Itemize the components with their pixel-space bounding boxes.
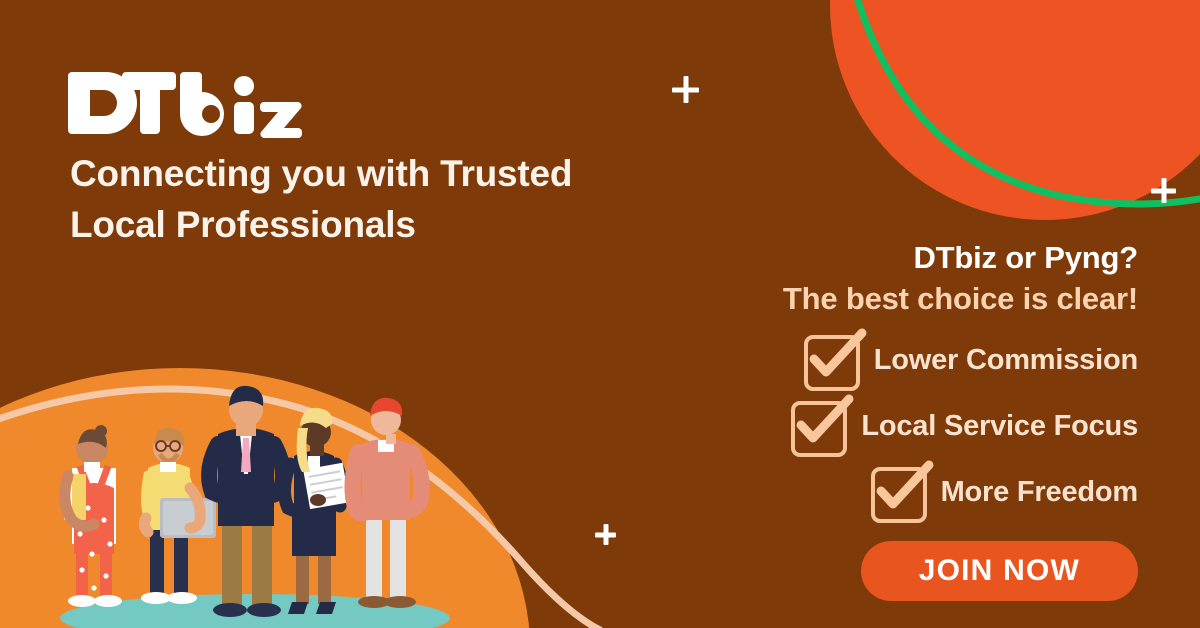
plus-mark-icon	[1151, 178, 1176, 203]
benefit-item: More Freedom	[869, 465, 1138, 521]
figure-woman-with-documents	[284, 408, 349, 614]
benefit-item: Lower Commission	[802, 333, 1138, 389]
plus-mark-icon	[672, 76, 699, 103]
dtbiz-logo[interactable]	[68, 68, 303, 138]
benefit-label: Local Service Focus	[861, 410, 1138, 443]
checkmark-icon	[802, 333, 858, 389]
benefit-label: More Freedom	[941, 476, 1138, 509]
figure-man-with-laptop	[141, 428, 216, 604]
figure-man-in-navy-suit	[209, 386, 283, 617]
plus-mark-icon	[595, 524, 616, 545]
promo-subheadline: The best choice is clear!	[668, 281, 1138, 317]
orange-circle	[830, 0, 1200, 220]
tagline-line-2: Local Professionals	[70, 199, 710, 250]
promo-headline: DTbiz or Pyng?	[668, 240, 1138, 276]
figure-person-in-salmon-sweater	[352, 398, 421, 608]
join-now-button[interactable]: JOIN NOW	[861, 541, 1138, 601]
checkmark-icon	[869, 465, 925, 521]
promo-banner: Connecting you with Trusted Local Profes…	[0, 0, 1200, 628]
benefit-item: Local Service Focus	[789, 399, 1138, 455]
benefits-list: Lower Commission Local Service Focus	[668, 333, 1138, 521]
benefit-label: Lower Commission	[874, 344, 1138, 377]
figure-woman-in-red-overalls	[64, 425, 122, 607]
people-illustration	[0, 348, 470, 628]
page-title: Connecting you with Trusted Local Profes…	[70, 148, 710, 250]
tagline-line-1: Connecting you with Trusted	[70, 148, 710, 199]
promo-column: DTbiz or Pyng? The best choice is clear!…	[668, 240, 1138, 601]
checkmark-icon	[789, 399, 845, 455]
